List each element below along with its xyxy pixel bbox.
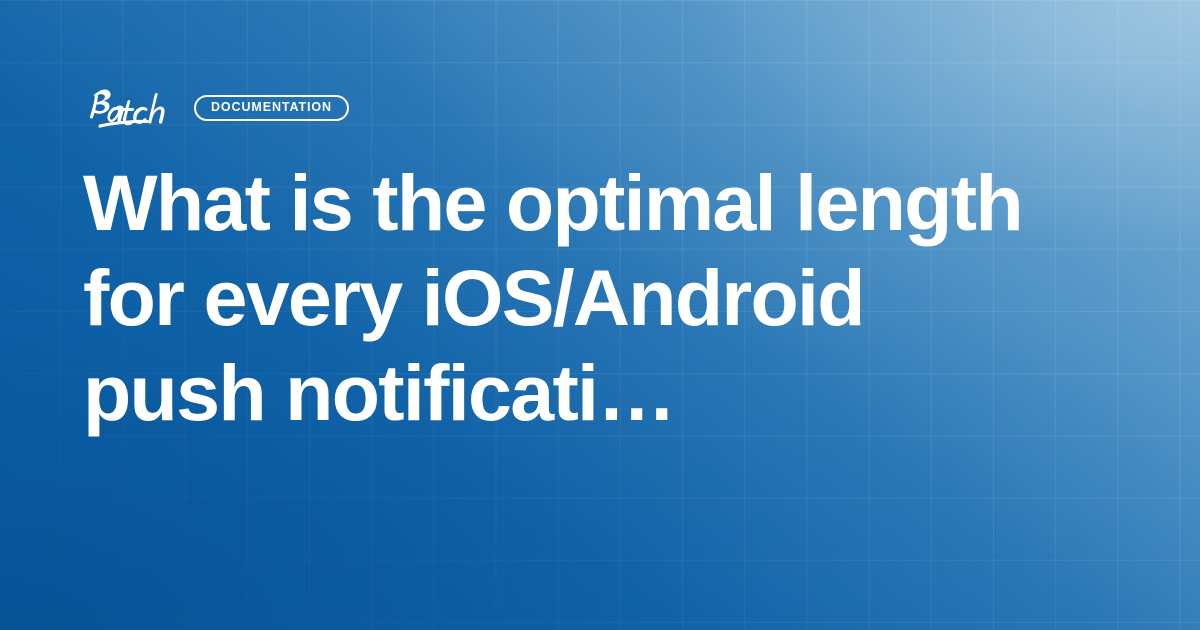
card-content: DOCUMENTATION What is the optimal length… xyxy=(0,0,1200,630)
og-card: DOCUMENTATION What is the optimal length… xyxy=(0,0,1200,630)
brand-bar: DOCUMENTATION xyxy=(83,84,349,132)
batch-logo-icon xyxy=(83,85,177,131)
documentation-badge: DOCUMENTATION xyxy=(194,95,349,121)
page-title: What is the optimal length for every iOS… xyxy=(83,155,1063,440)
